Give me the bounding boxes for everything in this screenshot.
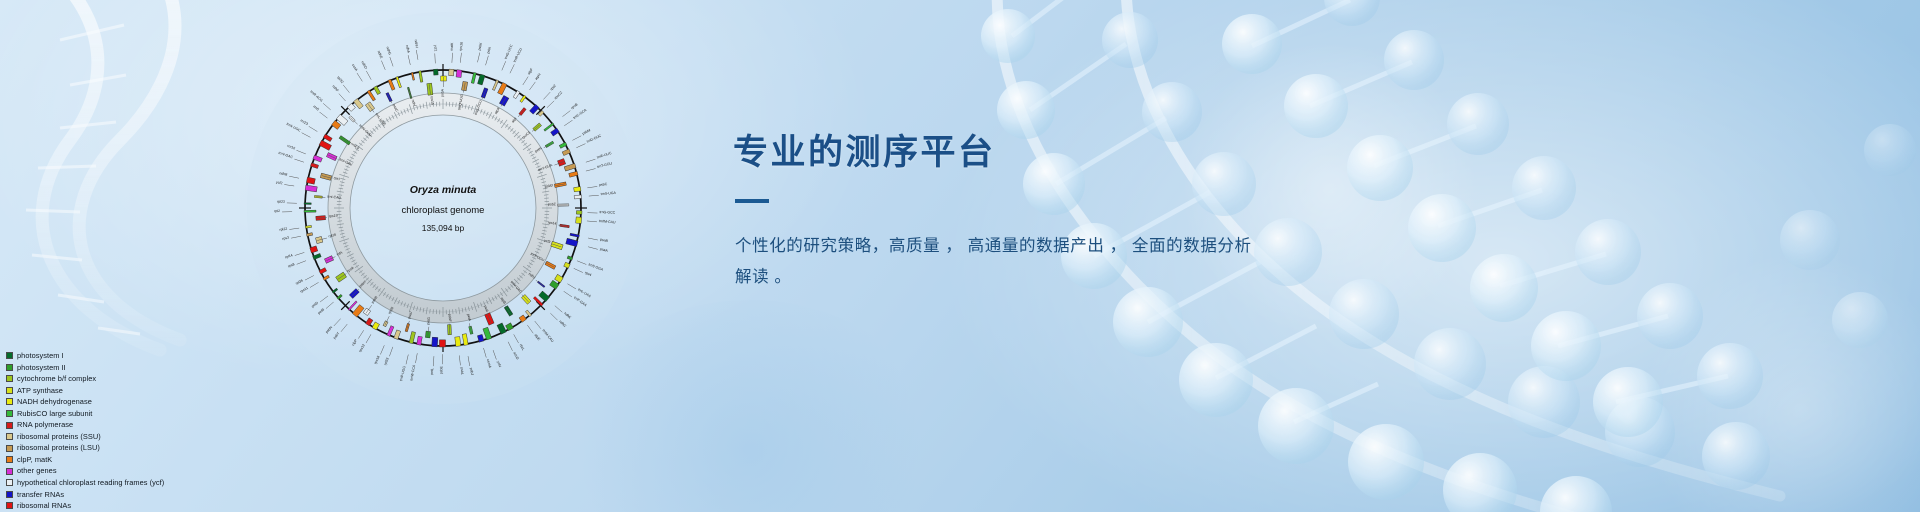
gene-feature-box [456, 70, 462, 78]
gene-label: rpl2 [274, 209, 280, 213]
legend-item: ribosomal proteins (SSU) [6, 431, 246, 443]
legend-item: RubisCO large subunit [6, 408, 246, 420]
legend-color-swatch [6, 422, 13, 429]
sequencing-platform-banner: psbAmatKrps16trnQ-UUGpsbKpsbItrnS-GCUtrn… [0, 0, 1920, 512]
legend-color-swatch [6, 468, 13, 475]
gene-feature-box [576, 211, 582, 215]
gene-feature-box [455, 337, 461, 347]
legend-item: hypothetical chloroplast reading frames … [6, 477, 246, 489]
gene-label: trnG-GCC [599, 210, 615, 215]
legend-item-label: cytochrome b/f complex [17, 373, 96, 385]
gene-label: petL [430, 368, 434, 375]
genome-subtitle: chloroplast genome [402, 205, 485, 216]
gene-feature-box [432, 337, 438, 347]
gene-label: rpl23 [277, 200, 285, 204]
legend-color-swatch [6, 387, 13, 394]
legend-item: ribosomal RNAs [6, 500, 246, 512]
legend-item: photosystem I [6, 350, 246, 362]
gene-label: psbZ [548, 202, 557, 206]
genome-species-name: Oryza minuta [410, 184, 477, 196]
gene-feature-box [304, 210, 316, 212]
gene-feature-box [576, 217, 582, 224]
gene-feature-box [433, 69, 438, 75]
gene-feature-box [449, 69, 454, 76]
gene-label: psbL [460, 367, 465, 375]
legend-item-label: other genes [17, 465, 57, 477]
gene-label: ycf1 [433, 45, 437, 52]
gene-feature-box [574, 187, 581, 192]
legend-color-swatch [6, 456, 13, 463]
page-title: 专业的测序平台 [733, 134, 1333, 173]
legend-item-label: photosystem I [17, 350, 64, 362]
legend-item-label: photosystem II [17, 362, 66, 374]
legend-item-label: RubisCO large subunit [17, 408, 92, 420]
gene-label: psbE [439, 366, 443, 375]
legend-color-swatch [6, 398, 13, 405]
legend-item-label: clpP, matK [17, 454, 52, 466]
gene-label: rps19 [329, 214, 338, 219]
gene-label: psbA [440, 88, 444, 97]
gene-feature-box [574, 195, 582, 199]
legend-color-swatch [6, 445, 13, 452]
banner-copy-block: 专业的测序平台 个性化的研究策略，高质量 ， 高通量的数据产出 ， 全面的数据分… [733, 134, 1333, 293]
legend-item-label: transfer RNAs [17, 489, 64, 501]
genome-length: 135,094 bp [422, 223, 465, 233]
chloroplast-genome-map: psbAmatKrps16trnQ-UUGpsbKpsbItrnS-GCUtrn… [238, 6, 648, 410]
gene-label: matK [450, 42, 455, 51]
legend-color-swatch [6, 364, 13, 371]
legend-color-swatch [6, 433, 13, 440]
legend-item-label: ribosomal proteins (LSU) [17, 442, 100, 454]
legend-color-swatch [6, 352, 13, 359]
title-underline-rule [735, 199, 769, 203]
legend-item: ribosomal proteins (LSU) [6, 442, 246, 454]
legend-item: cytochrome b/f complex [6, 373, 246, 385]
legend-item: clpP, matK [6, 454, 246, 466]
legend-item: NADH dehydrogenase [6, 396, 246, 408]
legend-item-label: ribosomal RNAs [17, 500, 71, 512]
legend-item: RNA polymerase [6, 419, 246, 431]
legend-item: transfer RNAs [6, 489, 246, 501]
legend-item: other genes [6, 465, 246, 477]
gene-feature-box [439, 340, 445, 347]
legend-item-label: NADH dehydrogenase [17, 396, 92, 408]
gene-label: psbF [448, 314, 452, 322]
legend-item-label: RNA polymerase [17, 419, 73, 431]
gene-category-legend: photosystem Iphotosystem IIcytochrome b/… [6, 350, 246, 512]
legend-color-swatch [6, 479, 13, 486]
legend-color-swatch [6, 375, 13, 382]
legend-item-label: ribosomal proteins (SSU) [17, 431, 101, 443]
legend-color-swatch [6, 410, 13, 417]
ambient-glow-3 [1640, 250, 1920, 512]
banner-description: 个性化的研究策略，高质量 ， 高通量的数据产出 ， 全面的数据分析解读 。 [735, 231, 1259, 293]
legend-color-swatch [6, 491, 13, 498]
legend-color-swatch [6, 502, 13, 509]
legend-item: photosystem II [6, 362, 246, 374]
legend-item-label: ATP synthase [17, 385, 63, 397]
gene-feature-box [304, 203, 311, 205]
legend-item: ATP synthase [6, 385, 246, 397]
legend-item-label: hypothetical chloroplast reading frames … [17, 477, 164, 489]
